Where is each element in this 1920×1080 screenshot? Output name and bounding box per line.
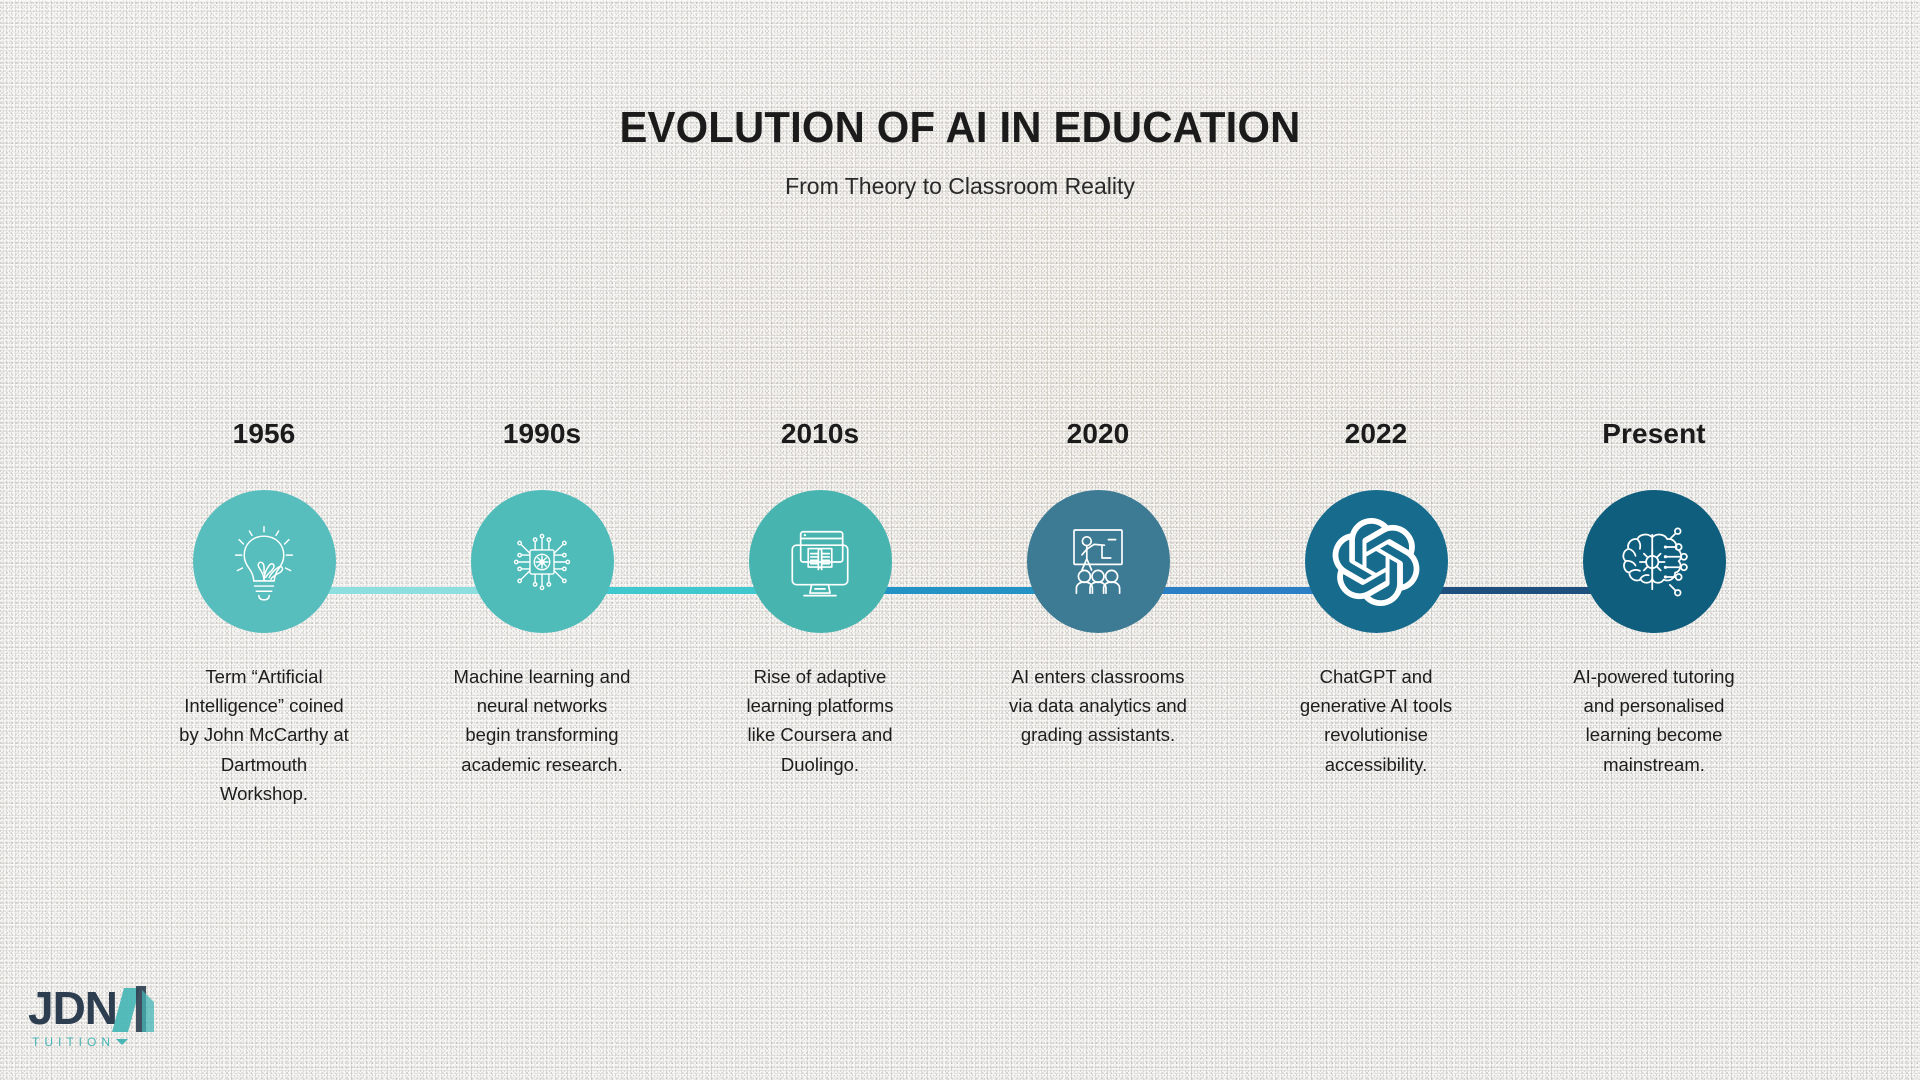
timeline-description: Term “Artificial Intelligence” coined by… [175,662,353,808]
header: EVOLUTION OF AI IN EDUCATION From Theory… [0,0,1920,198]
timeline-circle-present[interactable] [1583,490,1726,633]
timeline-year-label: 2010s [781,420,859,450]
timeline-year-label: 1956 [233,420,296,450]
timeline-year-label: 1990s [503,420,581,450]
page-subtitle: From Theory to Classroom Reality [0,175,1920,198]
timeline-description: ChatGPT and generative AI tools revoluti… [1287,662,1465,779]
timeline-circle-2010s[interactable] [749,490,892,633]
brand-mark-letters: JDN [28,982,117,1034]
lightbulb-icon [221,519,307,605]
brain-circuit-icon [1610,518,1698,606]
classroom-teacher-icon [1058,522,1138,602]
timeline-node-1956[interactable]: 1956 Term “Artificial Intelligence” coin… [125,420,403,840]
timeline-circle-1956[interactable] [193,490,336,633]
timeline-circle-2022[interactable] [1305,490,1448,633]
monitor-book-icon [778,520,862,604]
timeline: 1956 Term “Artificial Intelligence” coin… [125,420,1795,840]
timeline-node-2022[interactable]: 2022 ChatGPT and generative AI tools rev… [1237,420,1515,840]
timeline-description: Machine learning and neural networks beg… [453,662,631,779]
timeline-node-2020[interactable]: 2020 [959,420,1237,840]
brand-tagline: TUITION [32,1035,115,1049]
timeline-node-1990s[interactable]: 1990s [403,420,681,840]
ai-chip-icon [499,519,585,605]
timeline-year-label: 2022 [1345,420,1408,450]
timeline-year-label: 2020 [1067,420,1130,450]
openai-logo-icon [1332,518,1420,606]
timeline-nodes: 1956 Term “Artificial Intelligence” coin… [125,420,1795,840]
timeline-node-2010s[interactable]: 2010s Rise of adaptive learning platform… [681,420,959,840]
timeline-description: AI enters classrooms via data analytics … [1009,662,1187,750]
brand-logo[interactable]: JDN TUITION [24,980,204,1058]
brand-accent-triangle [116,1039,128,1045]
brand-mark-stroke-3 [142,990,154,1032]
timeline-description: Rise of adaptive learning platforms like… [731,662,909,779]
page-title: EVOLUTION OF AI IN EDUCATION [48,106,1872,150]
timeline-node-present[interactable]: Present [1515,420,1793,840]
timeline-year-label: Present [1602,420,1705,450]
timeline-description: AI-powered tutoring and personalised lea… [1565,662,1743,779]
timeline-circle-1990s[interactable] [471,490,614,633]
timeline-circle-2020[interactable] [1027,490,1170,633]
